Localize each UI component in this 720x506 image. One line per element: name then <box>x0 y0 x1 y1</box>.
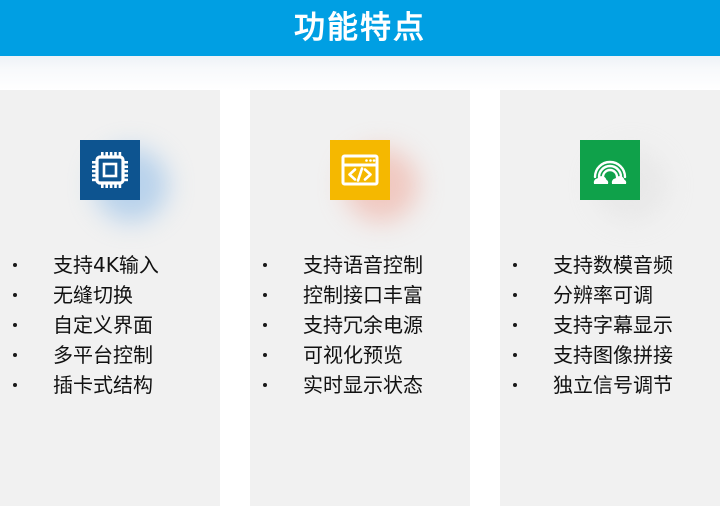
bullet-dot-icon <box>13 323 17 327</box>
bullet-dot-icon <box>263 263 267 267</box>
list-item-label: 可视化预览 <box>303 345 403 365</box>
list-item[interactable]: 支持图像拼接 <box>500 340 720 370</box>
list-item[interactable]: 可视化预览 <box>250 340 470 370</box>
list-item[interactable]: 插卡式结构 <box>0 370 220 400</box>
bullet-dot-icon <box>513 353 517 357</box>
bullet-dot-icon <box>263 353 267 357</box>
feature-card-1[interactable]: 支持4K输入 无缝切换 自定义界面 多平台控制 插卡式结构 <box>0 90 220 506</box>
bullet-dot-icon <box>263 323 267 327</box>
list-item-label: 控制接口丰富 <box>303 285 423 305</box>
bullet-dot-icon <box>513 293 517 297</box>
icon-zone <box>0 90 220 250</box>
list-item-label: 实时显示状态 <box>303 375 423 395</box>
cpu-chip-icon <box>80 140 140 200</box>
bullet-dot-icon <box>513 323 517 327</box>
feature-list: 支持语音控制 控制接口丰富 支持冗余电源 可视化预览 实时显示状态 <box>250 250 470 400</box>
bullet-dot-icon <box>513 263 517 267</box>
bullet-dot-icon <box>263 293 267 297</box>
rainbow-cloud-icon <box>580 140 640 200</box>
list-item[interactable]: 控制接口丰富 <box>250 280 470 310</box>
list-item[interactable]: 实时显示状态 <box>250 370 470 400</box>
list-item[interactable]: 支持语音控制 <box>250 250 470 280</box>
bullet-dot-icon <box>513 383 517 387</box>
list-item[interactable]: 支持字幕显示 <box>500 310 720 340</box>
page-title: 功能特点 <box>294 13 426 44</box>
list-item-label: 支持字幕显示 <box>553 315 673 335</box>
bullet-dot-icon <box>13 353 17 357</box>
list-item-label: 支持数模音频 <box>553 255 673 275</box>
list-item-label: 独立信号调节 <box>553 375 673 395</box>
feature-card-2[interactable]: 支持语音控制 控制接口丰富 支持冗余电源 可视化预览 实时显示状态 <box>250 90 470 506</box>
feature-list: 支持数模音频 分辨率可调 支持字幕显示 支持图像拼接 独立信号调节 <box>500 250 720 400</box>
page-header: 功能特点 <box>0 0 720 56</box>
list-item-label: 分辨率可调 <box>553 285 653 305</box>
list-item-label: 支持语音控制 <box>303 255 423 275</box>
icon-wrapper <box>330 140 390 200</box>
list-item-label: 自定义界面 <box>53 315 153 335</box>
feature-cards-row: 支持4K输入 无缝切换 自定义界面 多平台控制 插卡式结构 <box>0 90 720 506</box>
list-item[interactable]: 支持数模音频 <box>500 250 720 280</box>
bullet-dot-icon <box>13 263 17 267</box>
feature-list: 支持4K输入 无缝切换 自定义界面 多平台控制 插卡式结构 <box>0 250 220 400</box>
icon-zone <box>500 90 720 250</box>
bullet-dot-icon <box>13 293 17 297</box>
list-item[interactable]: 自定义界面 <box>0 310 220 340</box>
list-item-label: 支持图像拼接 <box>553 345 673 365</box>
list-item-label: 多平台控制 <box>53 345 153 365</box>
header-gradient-divider <box>0 56 720 90</box>
bullet-dot-icon <box>263 383 267 387</box>
list-item[interactable]: 无缝切换 <box>0 280 220 310</box>
list-item[interactable]: 支持4K输入 <box>0 250 220 280</box>
code-window-icon <box>330 140 390 200</box>
list-item-label: 插卡式结构 <box>53 375 153 395</box>
icon-zone <box>250 90 470 250</box>
list-item[interactable]: 独立信号调节 <box>500 370 720 400</box>
list-item-label: 支持冗余电源 <box>303 315 423 335</box>
list-item[interactable]: 分辨率可调 <box>500 280 720 310</box>
feature-card-3[interactable]: 支持数模音频 分辨率可调 支持字幕显示 支持图像拼接 独立信号调节 <box>500 90 720 506</box>
list-item-label: 支持4K输入 <box>53 255 159 275</box>
list-item[interactable]: 支持冗余电源 <box>250 310 470 340</box>
list-item[interactable]: 多平台控制 <box>0 340 220 370</box>
bullet-dot-icon <box>13 383 17 387</box>
list-item-label: 无缝切换 <box>53 285 133 305</box>
icon-wrapper <box>80 140 140 200</box>
icon-wrapper <box>580 140 640 200</box>
